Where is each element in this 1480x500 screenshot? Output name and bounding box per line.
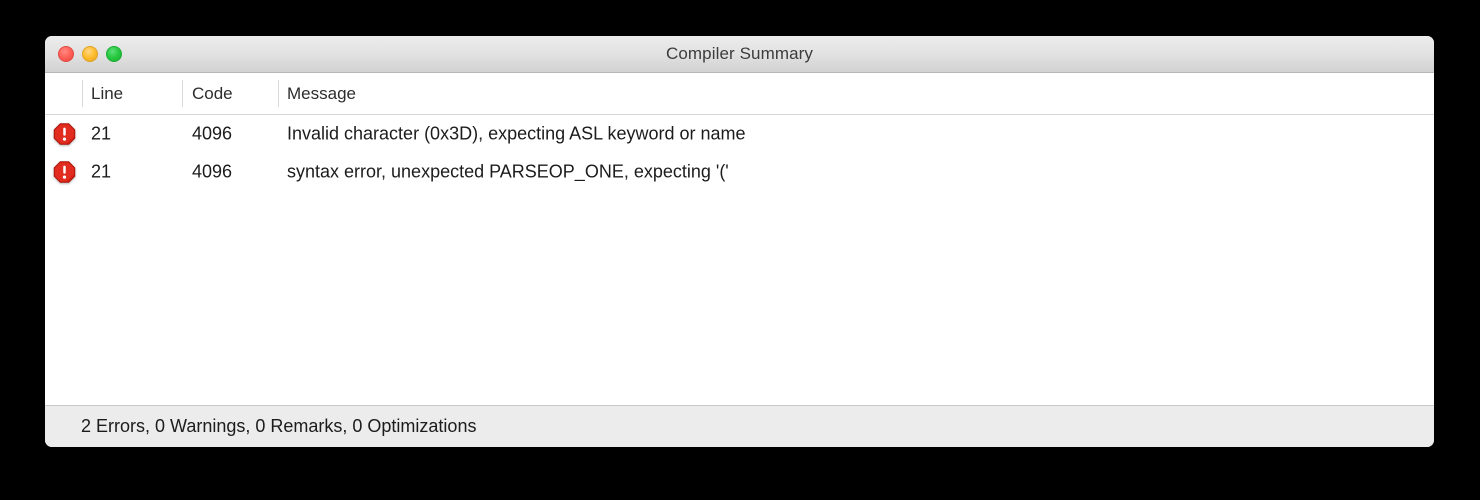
- error-icon: [53, 161, 76, 184]
- error-icon: [53, 123, 76, 146]
- maximize-button[interactable]: [106, 46, 122, 62]
- minimize-button[interactable]: [82, 46, 98, 62]
- column-header-line[interactable]: Line: [91, 84, 123, 104]
- column-separator-3: [278, 80, 279, 107]
- table-header-row: Line Code Message: [45, 73, 1434, 115]
- status-bar: 2 Errors, 0 Warnings, 0 Remarks, 0 Optim…: [45, 405, 1434, 447]
- window-controls: [58, 46, 122, 62]
- table-row[interactable]: 21 4096 syntax error, unexpected PARSEOP…: [45, 153, 1434, 191]
- row-message: Invalid character (0x3D), expecting ASL …: [287, 124, 746, 145]
- row-error-code: 4096: [192, 124, 232, 145]
- row-error-code: 4096: [192, 162, 232, 183]
- close-button[interactable]: [58, 46, 74, 62]
- row-line-number: 21: [91, 162, 111, 183]
- row-message: syntax error, unexpected PARSEOP_ONE, ex…: [287, 162, 729, 183]
- column-separator-2: [182, 80, 183, 107]
- window-title: Compiler Summary: [45, 44, 1434, 64]
- table-row[interactable]: 21 4096 Invalid character (0x3D), expect…: [45, 115, 1434, 153]
- row-line-number: 21: [91, 124, 111, 145]
- column-header-code[interactable]: Code: [192, 84, 233, 104]
- status-summary: 2 Errors, 0 Warnings, 0 Remarks, 0 Optim…: [81, 416, 476, 437]
- diagnostics-list[interactable]: 21 4096 Invalid character (0x3D), expect…: [45, 115, 1434, 405]
- column-separator-1: [82, 80, 83, 107]
- window-titlebar[interactable]: Compiler Summary: [45, 36, 1434, 73]
- compiler-summary-window: Compiler Summary Line Code Message 21 40…: [45, 36, 1434, 447]
- column-header-message[interactable]: Message: [287, 84, 356, 104]
